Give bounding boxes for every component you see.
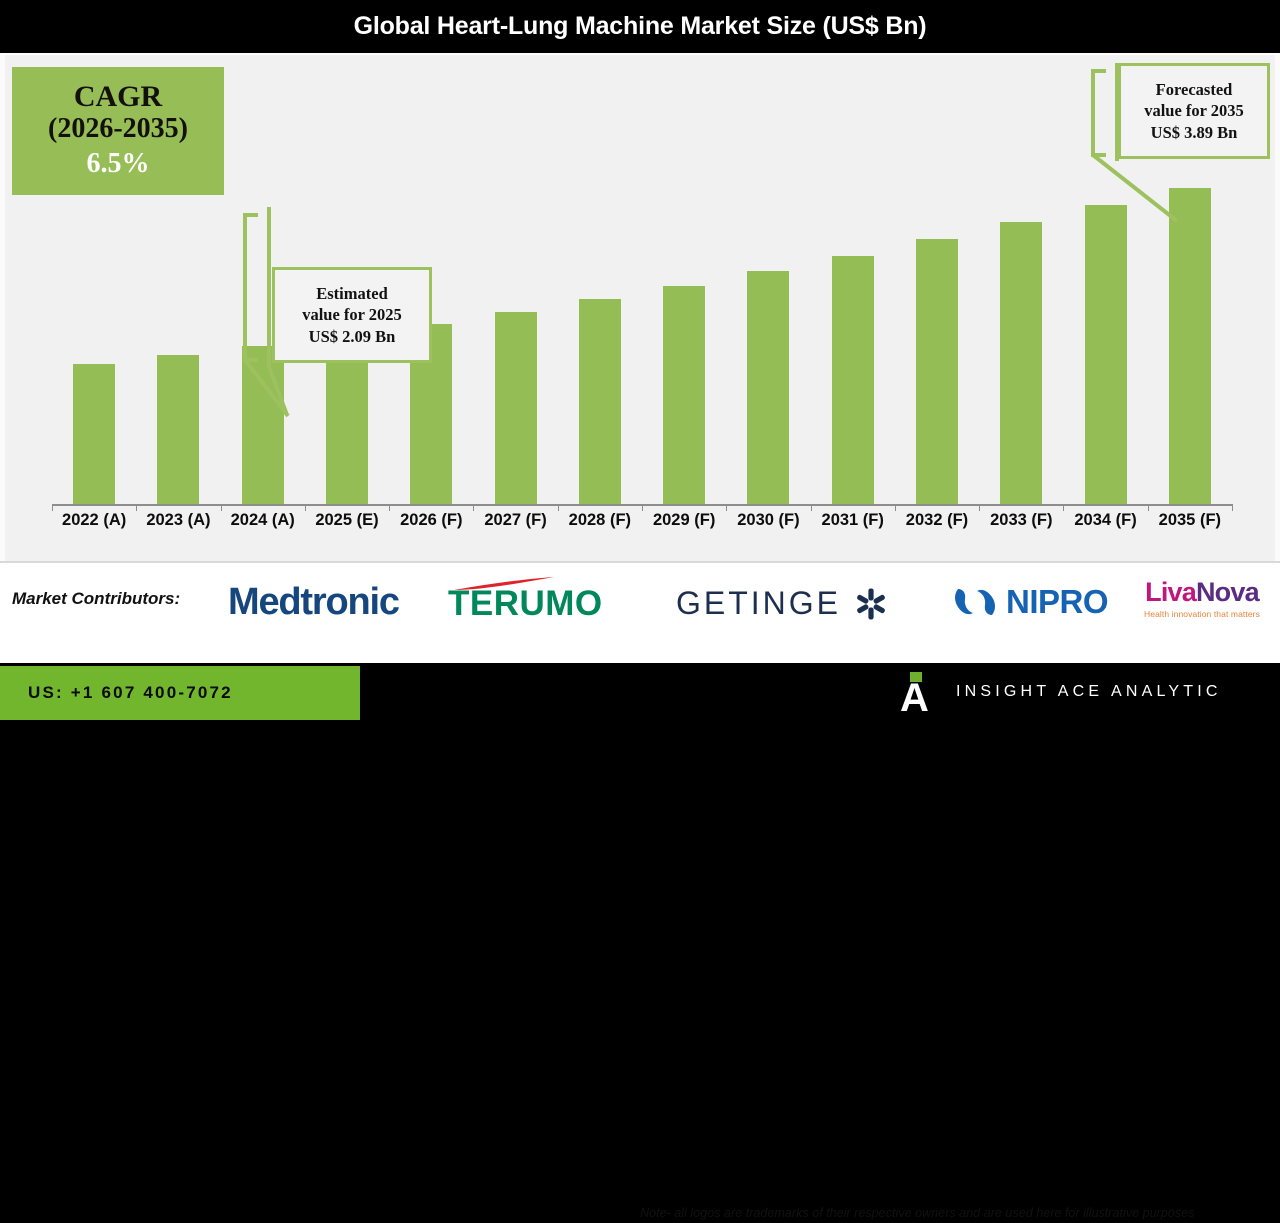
estimated-callout-line2: value for 2025 [302, 304, 402, 325]
market-contributors-strip: Market Contributors: Medtronic TERUMO GE… [0, 561, 1280, 663]
estimated-value-callout: Estimated value for 2025 US$ 2.09 Bn [272, 267, 432, 363]
logo-terumo: TERUMO [448, 577, 603, 621]
logo-livanova-part2: Nova [1196, 577, 1259, 607]
forecasted-callout-line1: Forecasted [1156, 79, 1233, 100]
logo-medtronic-text: Medtronic [228, 581, 399, 624]
title-bar: Global Heart-Lung Machine Market Size (U… [0, 0, 1280, 53]
forecasted-callout-line3: US$ 3.89 Bn [1151, 122, 1238, 143]
logo-medtronic: Medtronic [228, 581, 399, 624]
forecasted-callout-leader [5, 55, 1280, 563]
market-contributors-label: Market Contributors: [12, 589, 180, 609]
insight-ace-logo-icon: A [900, 672, 934, 712]
logo-livanova-tagline: Health innovation that matters [1144, 609, 1260, 619]
nipro-mark-icon [952, 585, 998, 619]
getinge-asterisk-icon [855, 588, 887, 620]
logo-livanova-part1: Liva [1145, 577, 1196, 607]
forecasted-callout-line2: value for 2035 [1144, 100, 1244, 121]
logo-livanova-text: LivaNova [1145, 579, 1259, 606]
logo-nipro: NIPRO [952, 583, 1108, 621]
chart-panel: CAGR (2026-2035) 6.5% 2022 (A)2023 (A)20… [0, 53, 1280, 561]
brand-letter: A [900, 683, 929, 714]
estimated-callout-line3: US$ 2.09 Bn [309, 326, 396, 347]
footer-brand: A INSIGHT ACE ANALYTIC [900, 663, 1222, 720]
page-title: Global Heart-Lung Machine Market Size (U… [354, 12, 927, 41]
logo-livanova: LivaNova Health innovation that matters [1144, 579, 1260, 619]
footer-phone-block: US: +1 607 400-7072 [0, 666, 360, 720]
logo-terumo-text: TERUMO [448, 586, 603, 621]
footer-phone-number[interactable]: US: +1 607 400-7072 [28, 683, 233, 703]
logo-nipro-text: NIPRO [1006, 583, 1108, 621]
trademark-note: Note- all logos are trademarks of their … [640, 1206, 1276, 1223]
estimated-callout-line1: Estimated [316, 283, 388, 304]
forecasted-value-callout: Forecasted value for 2035 US$ 3.89 Bn [1118, 63, 1270, 159]
footer-bar: US: +1 607 400-7072 A INSIGHT ACE ANALYT… [0, 663, 1280, 720]
logo-getinge-text: GETINGE [676, 585, 841, 622]
logo-getinge: GETINGE [676, 585, 887, 622]
footer-brand-name: INSIGHT ACE ANALYTIC [956, 683, 1222, 701]
